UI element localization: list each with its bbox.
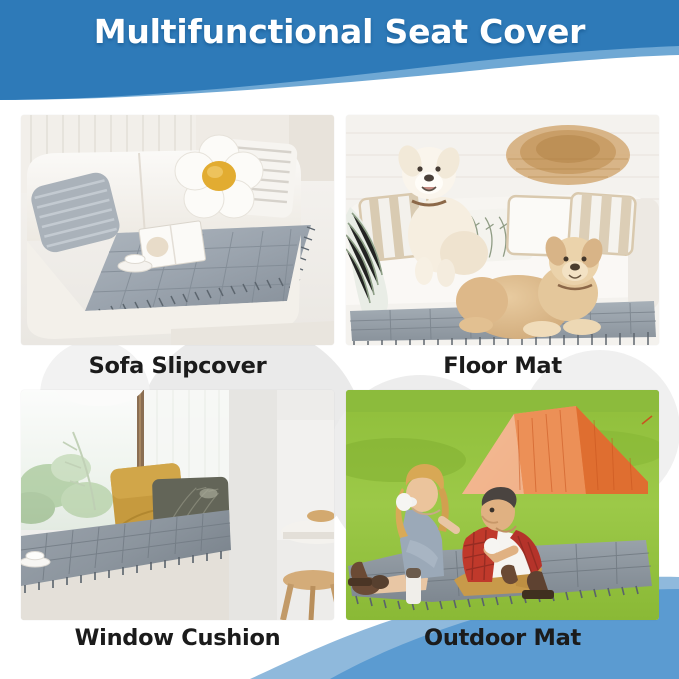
- panel-floor-mat[interactable]: Floor Mat: [346, 115, 659, 345]
- page-title: Multifunctional Seat Cover: [0, 12, 679, 51]
- panel-sofa-slipcover[interactable]: Sofa Slipcover: [21, 115, 334, 345]
- photo-window-cushion: [21, 390, 334, 620]
- photo-sofa-slipcover: [21, 115, 334, 345]
- feature-grid: Sofa Slipcover: [0, 110, 679, 670]
- photo-outdoor-mat: [346, 390, 659, 620]
- panel-caption-window-cushion: Window Cushion: [21, 623, 334, 653]
- panel-caption-outdoor-mat: Outdoor Mat: [346, 623, 659, 653]
- panel-window-cushion[interactable]: Window Cushion: [21, 390, 334, 620]
- header-banner: Multifunctional Seat Cover: [0, 0, 679, 100]
- panel-caption-sofa-slipcover: Sofa Slipcover: [21, 351, 334, 381]
- photo-floor-mat: [346, 115, 659, 345]
- infographic-root: Multifunctional Seat Cover: [0, 0, 679, 679]
- panel-caption-floor-mat: Floor Mat: [346, 351, 659, 381]
- panel-outdoor-mat[interactable]: Outdoor Mat: [346, 390, 659, 620]
